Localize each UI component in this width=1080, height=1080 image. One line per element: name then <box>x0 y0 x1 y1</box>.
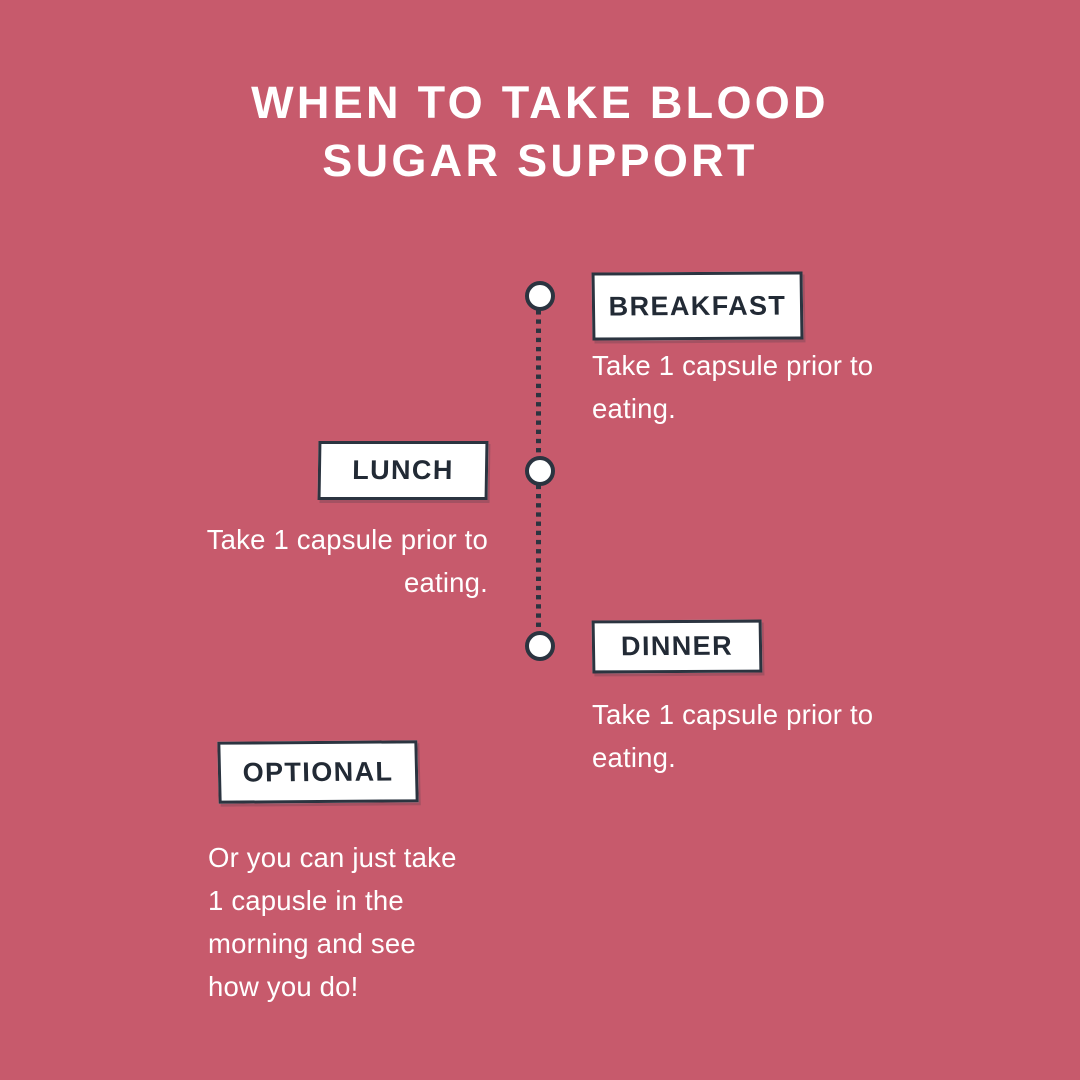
body-text-optional: Or you can just take 1 capusle in the mo… <box>208 836 508 1008</box>
optional-line-4: how you do! <box>208 965 508 1008</box>
label-box-dinner: DINNER <box>592 620 763 674</box>
dinner-line-1: Take 1 capsule prior to <box>592 693 922 736</box>
label-box-lunch: LUNCH <box>318 441 489 500</box>
body-text-lunch: Take 1 capsule prior to eating. <box>158 518 488 604</box>
title-line-1: WHEN TO TAKE BLOOD <box>0 74 1080 132</box>
lunch-line-2: eating. <box>158 561 488 604</box>
breakfast-line-2: eating. <box>592 387 922 430</box>
dinner-line-2: eating. <box>592 736 922 779</box>
optional-line-2: 1 capusle in the <box>208 879 508 922</box>
label-optional: OPTIONAL <box>242 756 393 788</box>
infographic-canvas: WHEN TO TAKE BLOOD SUGAR SUPPORT BREAKFA… <box>0 0 1080 1080</box>
body-text-dinner: Take 1 capsule prior to eating. <box>592 693 922 779</box>
optional-line-3: morning and see <box>208 922 508 965</box>
page-title: WHEN TO TAKE BLOOD SUGAR SUPPORT <box>0 74 1080 190</box>
label-breakfast: BREAKFAST <box>608 290 786 322</box>
label-box-optional: OPTIONAL <box>217 740 418 803</box>
lunch-line-1: Take 1 capsule prior to <box>158 518 488 561</box>
optional-line-1: Or you can just take <box>208 836 508 879</box>
breakfast-line-1: Take 1 capsule prior to <box>592 344 922 387</box>
title-line-2: SUGAR SUPPORT <box>0 132 1080 190</box>
timeline-dot-lunch <box>525 456 555 486</box>
timeline-dot-breakfast <box>525 281 555 311</box>
label-dinner: DINNER <box>621 631 733 663</box>
label-lunch: LUNCH <box>352 455 454 486</box>
timeline-dot-dinner <box>525 631 555 661</box>
label-box-breakfast: BREAKFAST <box>592 271 804 340</box>
body-text-breakfast: Take 1 capsule prior to eating. <box>592 344 922 430</box>
